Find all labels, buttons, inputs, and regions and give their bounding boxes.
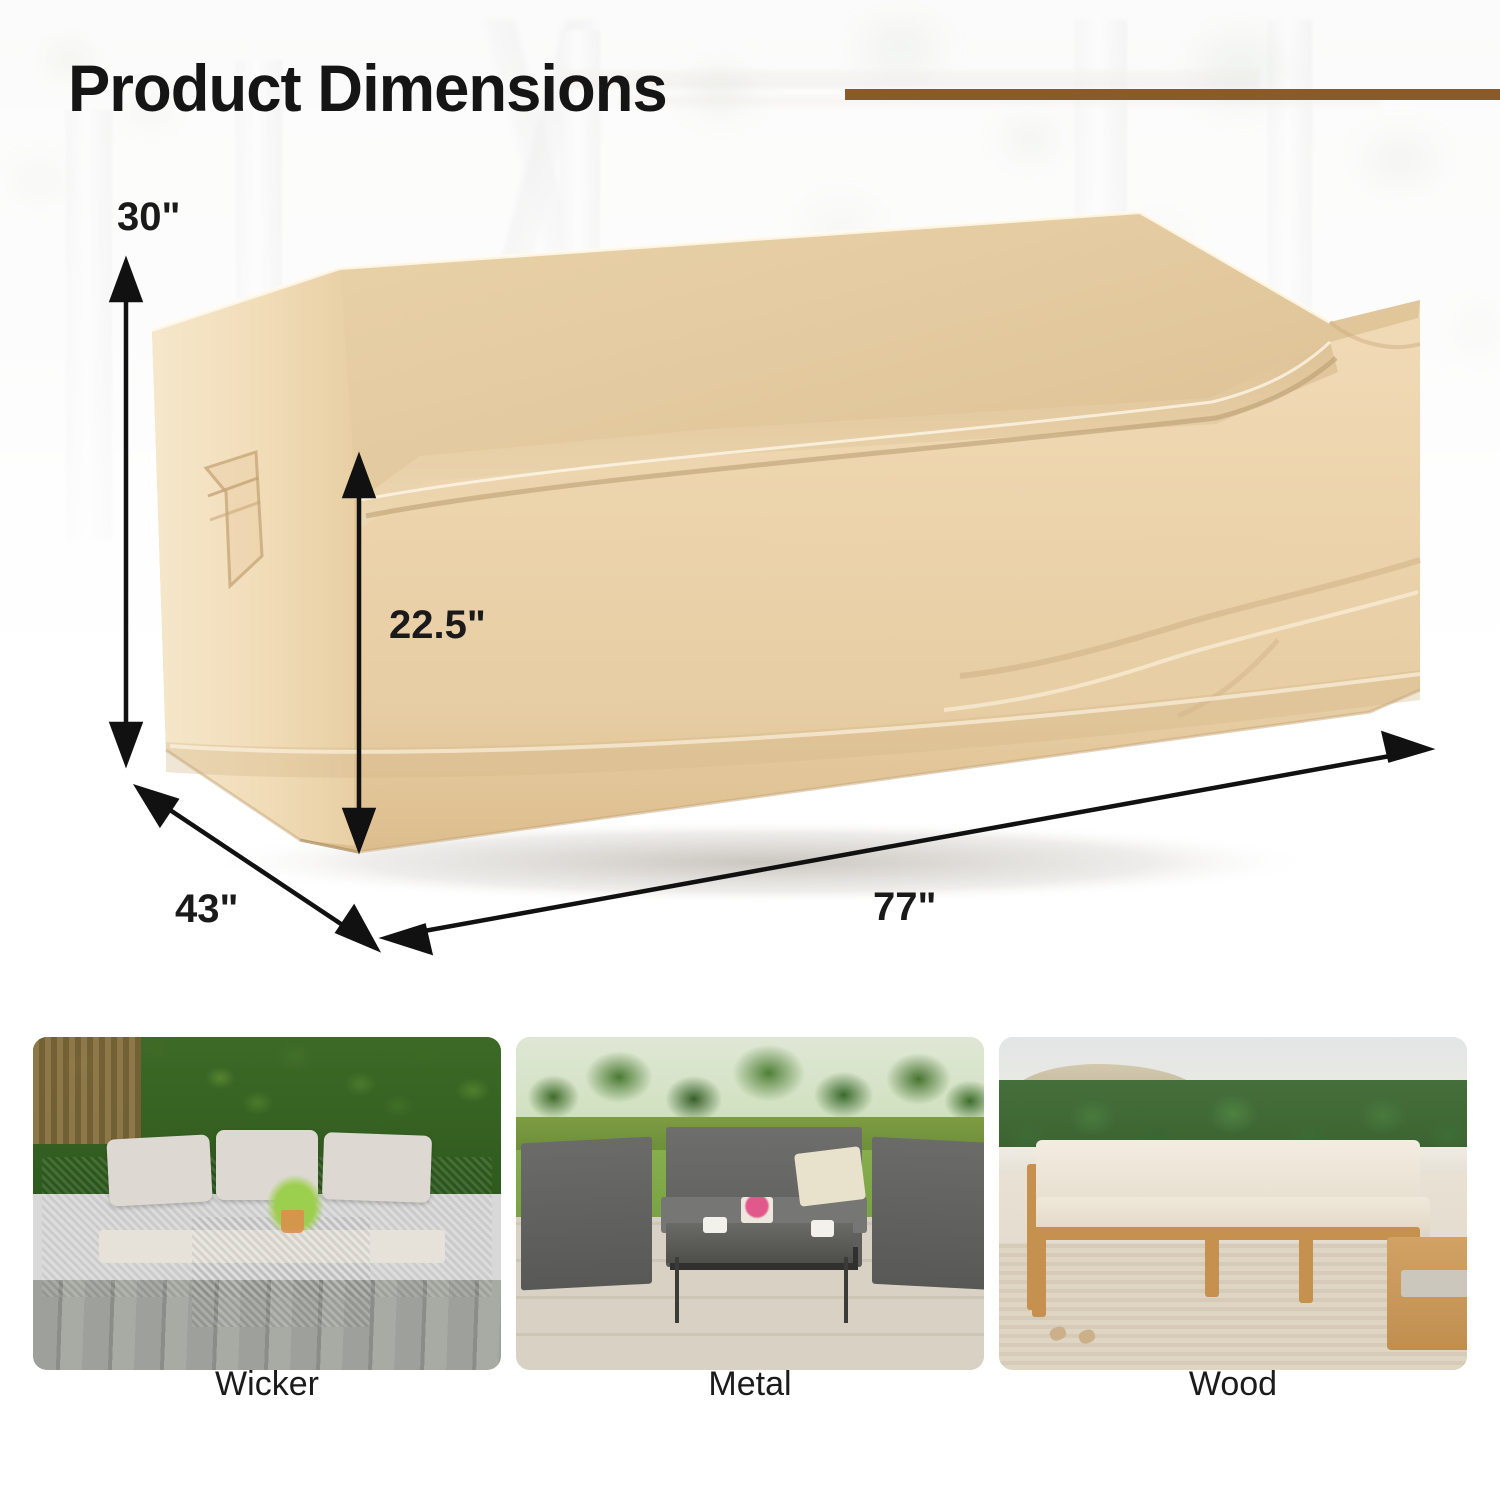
material-gallery: Wicker Metal bbox=[0, 1010, 1500, 1500]
sofa-wood-leg bbox=[1032, 1237, 1046, 1317]
wicker-coffee-table bbox=[192, 1217, 370, 1327]
coffee-cup bbox=[703, 1217, 726, 1234]
floral-throw-pillow bbox=[794, 1146, 866, 1207]
wood-fence bbox=[33, 1037, 141, 1144]
coffee-cup bbox=[811, 1220, 834, 1237]
gallery-card-metal[interactable] bbox=[516, 1037, 984, 1370]
cushion bbox=[322, 1132, 432, 1202]
gallery-caption-wood: Wood bbox=[999, 1365, 1467, 1404]
cover-illustration bbox=[0, 0, 1500, 1010]
table-leg bbox=[844, 1257, 848, 1324]
gallery-card-wicker[interactable] bbox=[33, 1037, 501, 1370]
gallery-photo-wood bbox=[999, 1037, 1467, 1370]
dimension-label-depth: 43" bbox=[175, 887, 238, 932]
sofa-wood-leg bbox=[1205, 1237, 1219, 1297]
sofa-wood-leg bbox=[1299, 1237, 1313, 1304]
dimension-label-width: 77" bbox=[873, 885, 936, 930]
metal-armchair-left bbox=[521, 1137, 652, 1290]
gallery-photo-wicker bbox=[33, 1037, 501, 1370]
armchair-cushion bbox=[1401, 1270, 1467, 1297]
dimension-label-height-front: 22.5" bbox=[389, 603, 486, 648]
gallery-photo-metal bbox=[516, 1037, 984, 1370]
gallery-card-wood[interactable] bbox=[999, 1037, 1467, 1370]
sofa-wood-rail bbox=[1027, 1227, 1420, 1240]
cushion bbox=[106, 1134, 212, 1206]
vase bbox=[281, 1210, 304, 1233]
metal-armchair-right bbox=[872, 1137, 984, 1290]
dimension-hero-panel: Product Dimensions bbox=[0, 0, 1500, 1010]
gallery-caption-metal: Metal bbox=[516, 1365, 984, 1404]
flower-pot bbox=[741, 1197, 774, 1224]
dimension-label-height-overall: 30" bbox=[117, 195, 180, 240]
gallery-caption-wicker: Wicker bbox=[33, 1365, 501, 1404]
table-leg bbox=[675, 1257, 679, 1324]
